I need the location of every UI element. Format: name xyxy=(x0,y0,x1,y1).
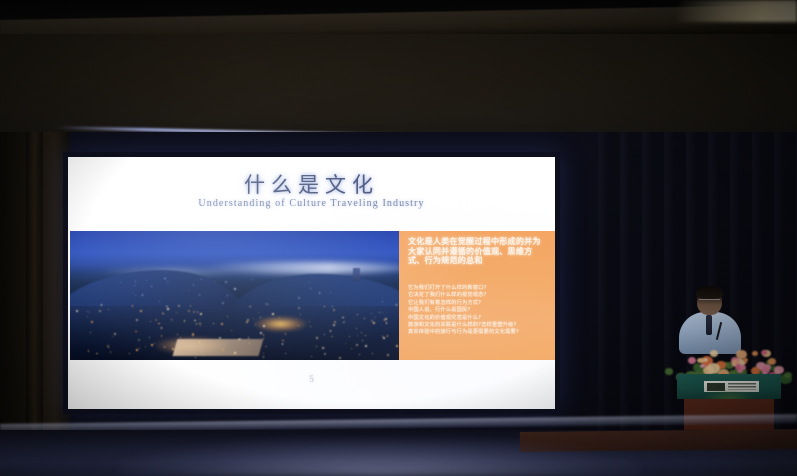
panel-heading: 文化是人类在觉醒过程中形成的并为大家认同并遵循的价值观、思维方式、行为规范的总和 xyxy=(408,237,548,266)
city-light-point xyxy=(331,336,333,338)
city-light-point xyxy=(282,340,283,341)
city-light-point xyxy=(112,336,113,337)
city-light-point xyxy=(161,327,162,328)
city-light-point xyxy=(158,323,159,324)
city-light-point xyxy=(178,305,180,307)
bouquet-flower xyxy=(732,360,737,365)
city-light-point xyxy=(176,312,177,313)
city-light-point xyxy=(246,321,248,323)
city-light-point xyxy=(167,308,169,310)
city-light-point xyxy=(324,353,326,355)
city-light-point xyxy=(272,313,274,315)
bouquet-flower xyxy=(743,358,748,362)
city-light-point xyxy=(199,323,200,324)
city-light-point xyxy=(365,345,367,347)
city-light-point xyxy=(285,353,286,354)
bouquet-flower xyxy=(774,366,784,374)
city-light-point xyxy=(90,332,91,333)
hillside-light-point xyxy=(214,281,215,282)
hillside-light-point xyxy=(120,282,121,283)
city-light-point xyxy=(365,335,366,336)
hillside-light-point xyxy=(189,290,190,291)
city-light-point xyxy=(322,347,324,349)
hillside-light-point xyxy=(146,280,147,281)
city-light-point xyxy=(334,321,336,323)
city-light-point xyxy=(199,341,201,343)
slide-footer: 5 xyxy=(68,360,555,409)
city-light-point xyxy=(351,348,352,349)
hillside-light-point xyxy=(225,281,227,283)
bouquet-flower xyxy=(688,357,696,364)
city-light-point xyxy=(108,347,109,348)
city-light-point xyxy=(227,316,228,317)
city-light-point xyxy=(357,314,358,315)
city-light-point xyxy=(201,351,202,352)
panel-bullet-item: 中国文化的价值观究竟是什么? xyxy=(408,315,550,322)
city-light-point xyxy=(345,343,346,344)
city-light-point xyxy=(382,312,383,313)
city-light-point xyxy=(298,307,300,309)
city-light-point xyxy=(383,337,385,339)
city-light-point xyxy=(359,354,360,355)
city-light-point xyxy=(364,318,365,319)
city-light-point xyxy=(171,319,172,320)
city-light-point xyxy=(172,348,174,350)
city-light-point xyxy=(136,349,138,351)
city-light-point xyxy=(263,356,265,358)
city-light-point xyxy=(162,313,164,315)
city-light-point xyxy=(199,319,200,320)
city-light-point xyxy=(387,354,389,356)
slide-title: 什么是文化 xyxy=(68,169,555,199)
hillside-light-point xyxy=(234,288,235,289)
city-light-point xyxy=(197,311,198,312)
city-light-point xyxy=(139,348,140,349)
city-light-point xyxy=(88,350,90,352)
hillside-light-point xyxy=(310,288,311,289)
hillside-light-point xyxy=(134,285,135,286)
city-light-point xyxy=(76,310,78,312)
city-light-point xyxy=(356,328,357,329)
presentation-slide: 什么是文化 Understanding of Culture Traveling… xyxy=(68,157,555,409)
city-light-point xyxy=(136,319,138,321)
city-light-point xyxy=(332,306,333,307)
city-light-point xyxy=(324,334,325,335)
bouquet-flower xyxy=(710,350,718,357)
slide-photo-cityscape xyxy=(70,231,399,360)
city-light-point xyxy=(333,324,335,326)
city-light-point xyxy=(263,338,264,339)
city-light-point xyxy=(114,333,116,335)
city-light-point xyxy=(356,344,358,346)
bouquet-foliage xyxy=(784,372,791,378)
city-light-point xyxy=(129,353,130,354)
hillside-light-point xyxy=(319,292,321,294)
speaker-hair xyxy=(696,286,723,299)
city-light-point xyxy=(175,350,176,351)
city-light-point xyxy=(135,331,137,333)
city-light-point xyxy=(140,310,142,312)
panel-bullet-list: 它为我们打开了什么样的新窗口?它决定了我们什么样的视觉观念?它让我们有着怎样的行… xyxy=(408,285,550,337)
city-light-point xyxy=(298,325,299,326)
glasses-icon xyxy=(699,299,720,304)
city-light-point xyxy=(342,317,343,318)
hillside-light-point xyxy=(251,279,252,280)
city-light-point xyxy=(316,337,317,338)
hillside-light-point xyxy=(298,297,300,299)
hillside-light-point xyxy=(193,284,195,286)
city-light-point xyxy=(374,317,375,318)
city-light-point xyxy=(385,318,387,320)
slide-title-area: 什么是文化 Understanding of Culture Traveling… xyxy=(68,157,555,231)
slide-page-number: 5 xyxy=(68,374,555,384)
city-light-point xyxy=(309,321,310,322)
city-light-point xyxy=(311,356,312,357)
hillside-light-point xyxy=(167,281,168,282)
hillside-light-point xyxy=(142,294,144,296)
city-light-point xyxy=(222,349,224,351)
city-light-point xyxy=(279,317,280,318)
city-light-point xyxy=(145,346,146,347)
ceiling-light-glow xyxy=(677,0,797,22)
wall-pillar xyxy=(26,132,43,432)
city-light-point xyxy=(200,325,201,326)
hillside-light-point xyxy=(382,301,383,302)
city-light-point xyxy=(310,326,311,327)
hillside-light-point xyxy=(227,295,228,296)
city-light-point xyxy=(265,346,267,348)
city-light-point xyxy=(110,351,112,353)
city-light-point xyxy=(357,335,358,336)
panel-bullet-item: 真实体验中的旅行与行为是更需要的文化需要? xyxy=(408,329,550,336)
city-light-point xyxy=(384,319,385,320)
bouquet-flower xyxy=(740,365,745,370)
city-light-point xyxy=(149,337,150,338)
hillside-light-point xyxy=(151,286,152,287)
hillside-light-point xyxy=(164,278,166,280)
hillside-light-point xyxy=(135,281,136,282)
city-light-point xyxy=(330,330,331,331)
city-light-point xyxy=(177,334,178,335)
city-light-point xyxy=(260,332,262,334)
bouquet-foliage xyxy=(665,368,673,375)
city-light-point xyxy=(324,306,325,307)
city-light-point xyxy=(203,355,204,356)
city-light-point xyxy=(194,320,196,322)
city-light-point xyxy=(87,316,88,317)
city-light-point xyxy=(188,310,190,312)
city-light-point xyxy=(91,321,93,323)
city-light-point xyxy=(101,304,103,306)
hillside-light-point xyxy=(309,282,310,283)
city-light-point xyxy=(200,313,201,314)
city-light-point xyxy=(379,312,380,313)
city-light-point xyxy=(362,340,363,341)
city-light-point xyxy=(151,344,153,346)
hillside-light-point xyxy=(159,301,160,302)
city-light-point xyxy=(192,333,194,335)
city-light-point xyxy=(138,339,140,341)
city-light-point xyxy=(371,320,372,321)
city-light-point xyxy=(213,323,214,324)
city-light-point xyxy=(154,343,155,344)
city-light-point xyxy=(221,323,223,325)
city-light-point xyxy=(396,304,397,305)
city-light-point xyxy=(234,352,236,354)
city-light-point xyxy=(161,335,162,336)
city-light-point xyxy=(361,332,362,333)
city-light-point xyxy=(386,322,387,323)
city-light-point xyxy=(180,337,181,338)
city-light-point xyxy=(150,321,151,322)
wall-texture-overlay xyxy=(0,34,797,140)
city-light-point xyxy=(164,346,166,348)
hillside-light-point xyxy=(135,295,136,296)
city-light-point xyxy=(238,339,240,341)
bouquet-flower xyxy=(707,363,720,374)
bouquet-flower xyxy=(697,358,703,363)
city-light-point xyxy=(219,337,221,339)
city-light-point xyxy=(373,322,375,324)
city-light-point xyxy=(166,306,167,307)
city-light-point xyxy=(155,319,157,321)
city-light-point xyxy=(193,311,195,313)
city-light-point xyxy=(96,353,97,354)
city-light-point xyxy=(253,318,254,319)
city-light-point xyxy=(132,305,134,307)
city-light-point xyxy=(255,324,257,326)
city-light-point xyxy=(396,345,398,347)
hillside-light-point xyxy=(199,294,200,295)
auditorium-scene: 什么是文化 Understanding of Culture Traveling… xyxy=(0,0,797,476)
city-light-point xyxy=(184,348,185,349)
city-light-point xyxy=(89,312,91,314)
bouquet-flower xyxy=(768,358,776,365)
photo-city-lights xyxy=(70,231,399,360)
podium-sign-text-lines xyxy=(728,383,756,390)
city-light-point xyxy=(190,305,192,307)
city-light-point xyxy=(99,310,101,312)
city-light-point xyxy=(258,312,259,313)
bouquet-flower xyxy=(752,351,758,356)
city-light-point xyxy=(300,314,301,315)
city-light-point xyxy=(372,353,373,354)
city-light-point xyxy=(324,347,325,348)
floor-light-pool xyxy=(120,440,640,476)
city-light-point xyxy=(196,323,197,324)
bouquet-flower xyxy=(761,366,770,374)
slide-orange-panel: 文化是人类在觉醒过程中形成的并为大家认同并遵循的价值观、思维方式、行为规范的总和… xyxy=(399,231,555,360)
panel-bullet-item: 它决定了我们什么样的视觉观念? xyxy=(408,292,550,299)
speaker-tie xyxy=(706,315,712,335)
city-light-point xyxy=(263,353,265,355)
city-light-point xyxy=(316,346,317,347)
city-light-point xyxy=(179,348,180,349)
city-light-point xyxy=(172,320,173,321)
city-light-point xyxy=(108,309,110,311)
city-light-point xyxy=(249,306,250,307)
panel-bullet-item: 中国人说、行什么是国民? xyxy=(408,307,550,314)
city-light-point xyxy=(263,334,264,335)
city-light-point xyxy=(282,343,283,344)
city-light-point xyxy=(248,337,249,338)
slide-subtitle: Understanding of Culture Traveling Indus… xyxy=(68,198,555,209)
city-light-point xyxy=(285,333,287,335)
hillside-light-point xyxy=(268,304,269,305)
city-light-point xyxy=(344,321,345,322)
hillside-light-point xyxy=(132,292,133,293)
city-light-point xyxy=(387,335,389,337)
bouquet-flower xyxy=(700,364,705,368)
city-light-point xyxy=(349,336,350,337)
hillside-light-point xyxy=(201,279,203,281)
city-light-point xyxy=(107,345,109,347)
city-light-point xyxy=(339,357,341,359)
city-light-point xyxy=(266,303,267,304)
city-light-point xyxy=(343,322,344,323)
city-light-point xyxy=(184,320,186,322)
city-light-point xyxy=(263,325,265,327)
city-light-point xyxy=(260,317,262,319)
city-light-point xyxy=(231,330,232,331)
hillside-light-point xyxy=(330,292,331,293)
city-light-point xyxy=(333,309,335,311)
city-light-point xyxy=(194,343,195,344)
city-light-point xyxy=(249,343,250,344)
city-light-point xyxy=(371,313,372,314)
city-light-point xyxy=(195,357,196,358)
hillside-light-point xyxy=(222,302,224,304)
